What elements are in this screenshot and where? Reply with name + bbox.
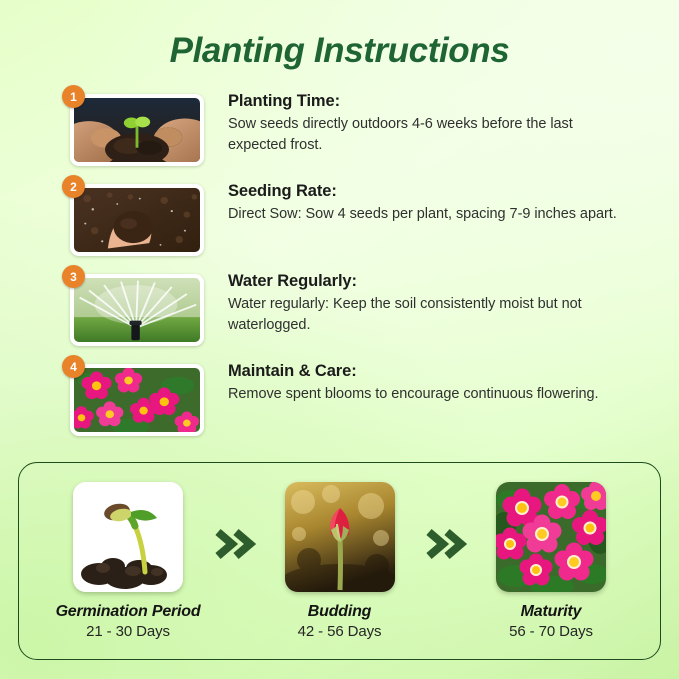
step-title: Water Regularly: <box>228 270 649 294</box>
step-text: Maintain & Care: Remove spent blooms to … <box>204 356 649 405</box>
step-number-badge: 1 <box>62 85 85 108</box>
step-thumbnail-wrap: 3 <box>70 274 204 346</box>
step-text: Seeding Rate: Direct Sow: Sow 4 seeds pe… <box>204 176 649 225</box>
page-title: Planting Instructions <box>0 0 679 68</box>
timeline-stage-germination: Germination Period 21 - 30 Days <box>53 482 203 640</box>
step-number-badge: 4 <box>62 355 85 378</box>
step-number-badge: 2 <box>62 175 85 198</box>
stage-days: 21 - 30 Days <box>86 623 170 640</box>
step-title: Seeding Rate: <box>228 180 649 204</box>
pink-primrose-flowers-photo <box>70 364 204 436</box>
step-text: Planting Time: Sow seeds directly outdoo… <box>204 86 649 155</box>
step-number-badge: 3 <box>62 265 85 288</box>
list-item: 1 <box>70 86 649 176</box>
sprouting-seed-photo <box>73 482 183 592</box>
flower-bud-photo <box>285 482 395 592</box>
double-chevron-right-icon <box>421 520 469 568</box>
list-item: 4 <box>70 356 649 446</box>
step-thumbnail-wrap: 4 <box>70 364 204 436</box>
step-text: Water Regularly: Water regularly: Keep t… <box>204 266 649 335</box>
stage-name: Germination Period <box>56 603 201 621</box>
blooming-primrose-photo <box>496 482 606 592</box>
stage-days: 42 - 56 Days <box>298 623 382 640</box>
hands-holding-soil-with-seedling-photo <box>70 94 204 166</box>
stage-days: 56 - 70 Days <box>509 623 593 640</box>
lawn-sprinkler-photo <box>70 274 204 346</box>
stage-name: Budding <box>308 603 371 621</box>
timeline-stage-budding: Budding 42 - 56 Days <box>265 482 415 640</box>
list-item: 3 <box>70 266 649 356</box>
hand-holding-soil-photo <box>70 184 204 256</box>
step-title: Planting Time: <box>228 90 649 114</box>
step-description: Water regularly: Keep the soil consisten… <box>228 294 628 335</box>
step-description: Sow seeds directly outdoors 4-6 weeks be… <box>228 114 628 155</box>
step-description: Remove spent blooms to encourage continu… <box>228 384 628 405</box>
list-item: 2 <box>70 176 649 266</box>
step-thumbnail-wrap: 2 <box>70 184 204 256</box>
stage-name: Maturity <box>521 603 582 621</box>
step-title: Maintain & Care: <box>228 360 649 384</box>
step-description: Direct Sow: Sow 4 seeds per plant, spaci… <box>228 204 628 225</box>
double-chevron-right-icon <box>210 520 258 568</box>
planting-steps-list: 1 <box>0 86 679 446</box>
timeline-stage-maturity: Maturity 56 - 70 Days <box>476 482 626 640</box>
step-thumbnail-wrap: 1 <box>70 94 204 166</box>
growth-timeline-panel: Germination Period 21 - 30 Days <box>18 462 661 660</box>
